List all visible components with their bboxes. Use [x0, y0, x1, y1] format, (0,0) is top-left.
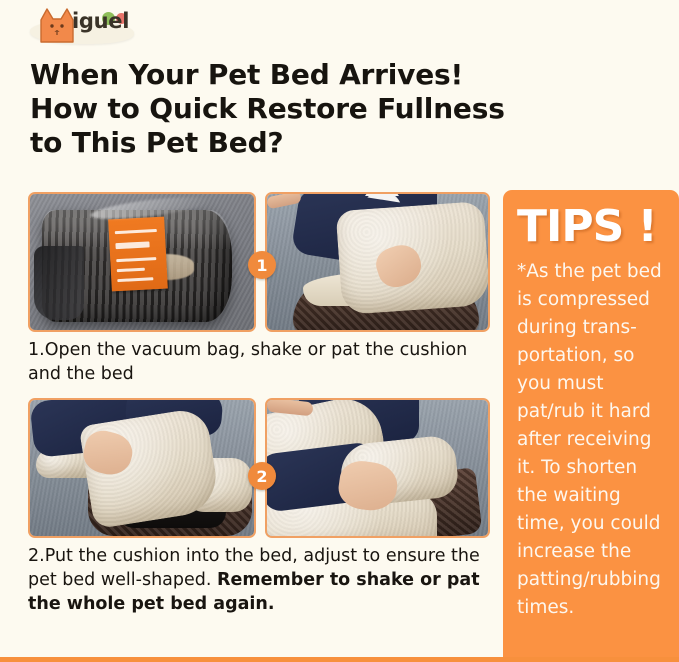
- brand-wordmark: iguel: [72, 9, 129, 33]
- step-badge-2: 2: [248, 462, 276, 490]
- infographic-page: iguel When Your Pet Bed Arrives! How to …: [0, 0, 679, 662]
- brand-logo: iguel: [28, 4, 136, 46]
- step-badge-1: 1: [248, 251, 276, 279]
- photo-patting-cushion: [265, 398, 490, 538]
- photo-holding-cushion: [265, 192, 490, 332]
- step-2-text: 2.Put the cushion into the bed, adjust t…: [28, 544, 496, 616]
- step-1-text: 1.Open the vacuum bag, shake or pat the …: [28, 338, 496, 386]
- cat-head-icon: [37, 6, 77, 44]
- tips-body: *As the pet bed is compressed during tra…: [517, 258, 667, 622]
- headline-line-3: to This Pet Bed?: [30, 126, 590, 160]
- headline-line-1: When Your Pet Bed Arrives!: [30, 58, 590, 92]
- headline-line-2: How to Quick Restore Fullness: [30, 92, 590, 126]
- photo-vacuum-bag: [28, 192, 256, 332]
- page-title: When Your Pet Bed Arrives! How to Quick …: [30, 58, 590, 160]
- tips-title: TIPS !: [517, 204, 667, 250]
- photo-inserting-cushion: [28, 398, 256, 538]
- tips-panel: TIPS ! *As the pet bed is compressed dur…: [503, 190, 679, 657]
